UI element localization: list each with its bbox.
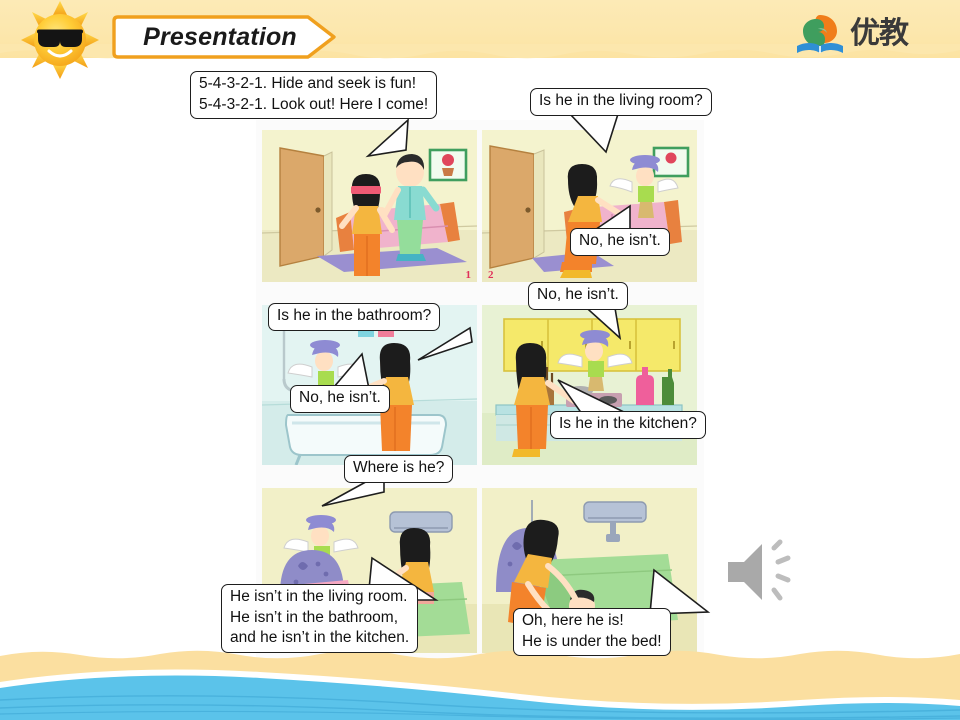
bubble-kitchen-q-line-1: Is he in the kitchen?: [559, 414, 697, 435]
bubble-found-line-2: He is under the bed!: [522, 632, 662, 653]
bubble-bathroom-q: Is he in the bathroom?: [268, 303, 440, 331]
swirl-book-logo-icon: [794, 9, 846, 59]
bubble-kitchen-q: Is he in the kitchen?: [550, 411, 706, 439]
bubble-no-1: No, he isn’t.: [570, 228, 670, 256]
bubble-tail-living-room-q: [568, 112, 646, 154]
bubble-no-3-line-1: No, he isn’t.: [299, 388, 381, 409]
bubble-living-room-q-line-1: Is he in the living room?: [539, 91, 703, 112]
logo-text: 优教: [850, 19, 908, 49]
bubble-intro-line-1: 5-4-3-2-1. Hide and seek is fun!: [199, 74, 428, 95]
bubble-intro: 5-4-3-2-1. Hide and seek is fun! 5-4-3-2…: [190, 71, 437, 119]
bubble-living-room-q: Is he in the living room?: [530, 88, 712, 116]
sun-sunglasses-icon: [8, 0, 116, 80]
brand-logo: 优教: [794, 6, 934, 62]
bubble-found-line-1: Oh, here he is!: [522, 611, 662, 632]
bubble-summary-line-3: and he isn’t in the kitchen.: [230, 628, 409, 649]
bubble-intro-line-2: 5-4-3-2-1. Look out! Here I come!: [199, 95, 428, 116]
panel-number: 1: [466, 269, 472, 281]
bubble-summary: He isn’t in the living room. He isn’t in…: [221, 584, 418, 653]
bubble-summary-line-2: He isn’t in the bathroom,: [230, 608, 409, 629]
bubble-where-line-1: Where is he?: [353, 458, 444, 479]
bubble-tail-bathroom-q: [404, 326, 474, 362]
bubble-no-2-line-1: No, he isn’t.: [537, 285, 619, 306]
bubble-where: Where is he?: [344, 455, 453, 483]
presentation-banner[interactable]: Presentation: [112, 14, 340, 60]
beach-wave-footer: [0, 642, 960, 720]
bubble-no-2: No, he isn’t.: [528, 282, 628, 310]
bubble-no-3: No, he isn’t.: [290, 385, 390, 413]
bubble-no-1-line-1: No, he isn’t.: [579, 231, 661, 252]
bubble-found: Oh, here he is! He is under the bed!: [513, 608, 671, 656]
bubble-tail-intro: [350, 118, 410, 158]
panel-number: 2: [488, 269, 494, 281]
presentation-slide: Presentation 优教: [0, 0, 960, 720]
bubble-bathroom-q-line-1: Is he in the bathroom?: [277, 306, 431, 327]
speaker-volume-icon[interactable]: [718, 532, 814, 612]
bubble-summary-line-1: He isn’t in the living room.: [230, 587, 409, 608]
